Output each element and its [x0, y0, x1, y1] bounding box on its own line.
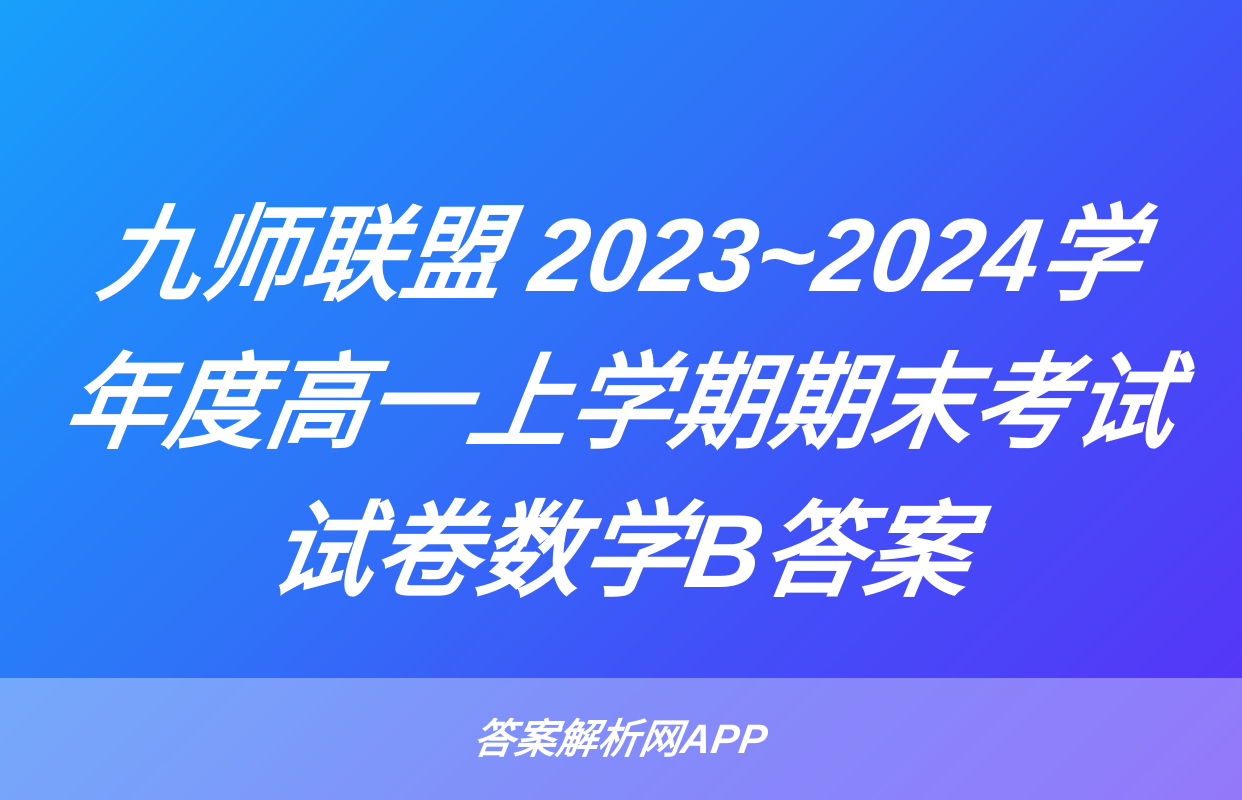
title-line-1: 九师联盟 2023~2024学	[7, 182, 1235, 330]
footer-band: 答案解析网APP	[0, 678, 1242, 800]
title-line-2: 年度高一上学期期末考试	[7, 330, 1235, 478]
poster-canvas: 九师联盟 2023~2024学 年度高一上学期期末考试 试卷数学B答案 答案解析…	[0, 0, 1242, 800]
page-title: 九师联盟 2023~2024学 年度高一上学期期末考试 试卷数学B答案	[0, 182, 1242, 626]
app-brand-label: 答案解析网APP	[471, 719, 771, 760]
title-line-3: 试卷数学B答案	[0, 478, 1242, 626]
